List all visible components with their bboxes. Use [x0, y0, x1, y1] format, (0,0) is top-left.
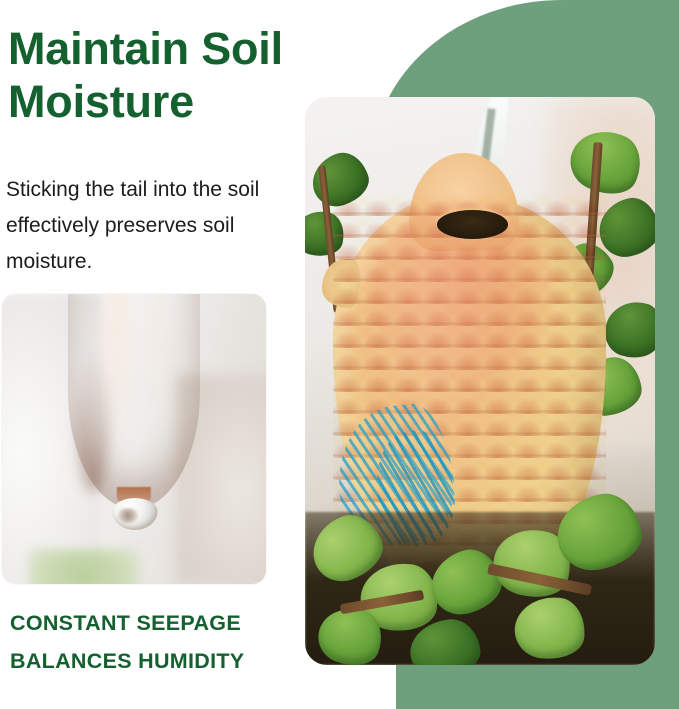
feature-caption: CONSTANT SEEPAGE BALANCES HUMIDITY: [10, 605, 310, 680]
spike-secondary-highlight: [150, 294, 166, 422]
body-description: Sticking the tail into the soil effectiv…: [6, 172, 274, 280]
page-title: Maintain Soil Moisture: [8, 22, 358, 128]
bird-watering-spike-photo: [305, 97, 655, 665]
spike-shadow: [76, 350, 110, 493]
drip-closeup-photo: [2, 294, 266, 584]
feature-caption-line-1: CONSTANT SEEPAGE: [10, 605, 310, 643]
drip-photo-foliage-blur: [28, 549, 139, 584]
water-droplet-refraction: [118, 508, 139, 523]
product-infographic: Maintain Soil Moisture Sticking the tail…: [0, 0, 679, 709]
feature-caption-line-2: BALANCES HUMIDITY: [10, 643, 310, 681]
bird-fill-opening: [437, 210, 508, 239]
